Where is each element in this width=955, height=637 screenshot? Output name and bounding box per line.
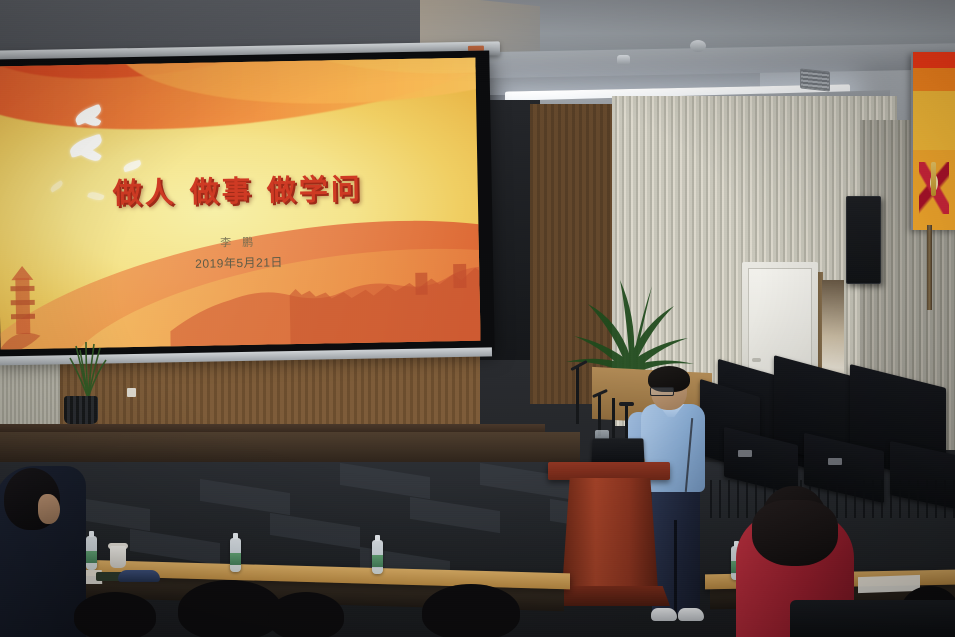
chair-back bbox=[790, 600, 955, 637]
glasses-icon bbox=[650, 387, 674, 396]
lecture-hall-photo: 做人 做事 做学问 李 鹏 2019年5月21日 bbox=[0, 0, 955, 637]
coffee-cup-icon bbox=[110, 546, 126, 568]
attendee-foreground-head bbox=[422, 584, 520, 637]
water-bottle-icon bbox=[230, 538, 241, 572]
presenter-leg-gap bbox=[674, 520, 677, 614]
chair-label-icon bbox=[828, 458, 842, 465]
microphone-icon bbox=[619, 402, 634, 406]
slide-title: 做人 做事 做学问 bbox=[0, 164, 478, 215]
spotlight-icon bbox=[690, 40, 706, 52]
plant-pot bbox=[64, 396, 98, 424]
projector-screen: 做人 做事 做学问 李 鹏 2019年5月21日 bbox=[0, 50, 495, 359]
wooden-podium bbox=[562, 478, 658, 590]
microphone-stand bbox=[612, 398, 615, 438]
vertical-roll-banner bbox=[911, 52, 955, 230]
attendee-hair bbox=[752, 500, 838, 566]
spotlight-icon bbox=[617, 55, 630, 65]
presentation-slide: 做人 做事 做学问 李 鹏 2019年5月21日 bbox=[0, 58, 481, 350]
chair-label-icon bbox=[738, 450, 752, 457]
attendee-foreground-head bbox=[178, 580, 282, 637]
pagoda-tower-icon bbox=[0, 264, 47, 350]
water-bottle-icon bbox=[372, 540, 383, 574]
podium-top bbox=[548, 462, 670, 480]
stacked-folding-chairs bbox=[700, 362, 955, 522]
attendee-foreground-head bbox=[268, 592, 344, 637]
air-vent-icon bbox=[800, 68, 830, 91]
presenter-shoe bbox=[678, 608, 704, 621]
attendee-face bbox=[38, 494, 60, 524]
wall-switch-icon[interactable] bbox=[127, 388, 136, 397]
presenter-shoe bbox=[651, 608, 677, 621]
microphone-stand bbox=[576, 366, 579, 424]
attendee-foreground-head bbox=[74, 592, 156, 637]
wall-speaker-icon bbox=[846, 196, 881, 284]
water-bottle-icon bbox=[86, 536, 97, 570]
banner-emblem-icon bbox=[919, 162, 949, 214]
documents-icon bbox=[858, 575, 920, 593]
banner-pole bbox=[927, 225, 932, 310]
cap-icon bbox=[118, 570, 160, 582]
